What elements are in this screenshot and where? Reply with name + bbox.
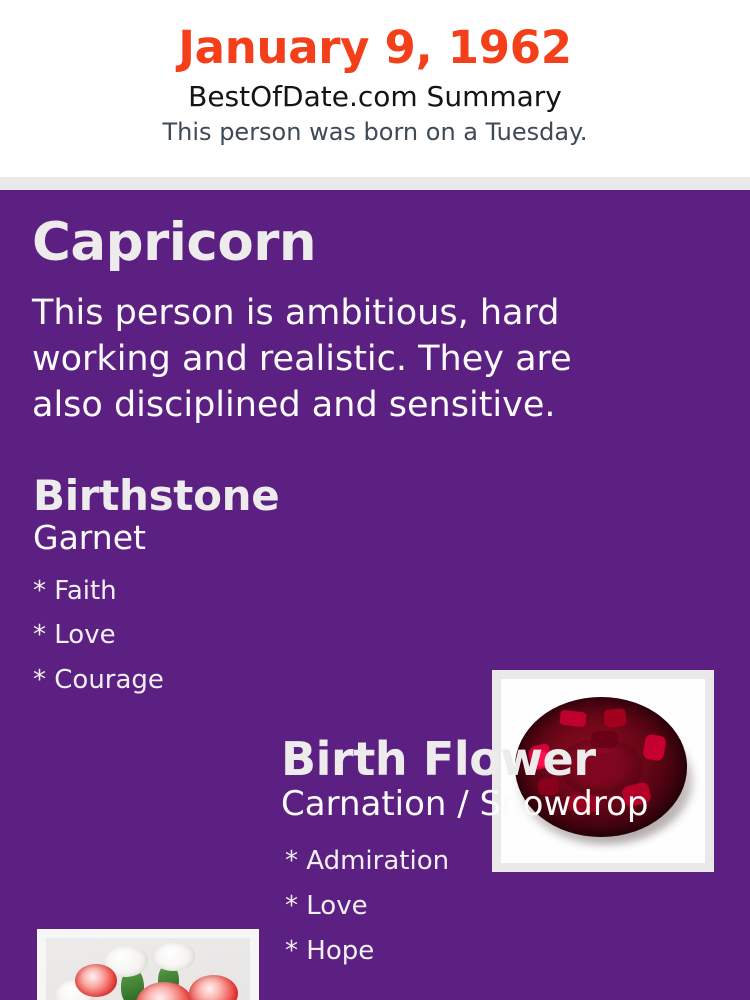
list-item: * Courage — [33, 658, 473, 703]
birthstone-trait-list: * Faith * Love * Courage — [33, 557, 473, 703]
birthstone-name: Garnet — [33, 518, 473, 556]
birthstone-section: Birthstone Garnet * Faith * Love * Coura… — [33, 473, 473, 703]
birth-flower-trait-list: * Admiration * Love * Hope — [281, 823, 741, 973]
list-item: * Faith — [33, 569, 473, 614]
page-header: January 9, 1962 BestOfDate.com Summary T… — [0, 0, 750, 177]
list-item: * Admiration — [285, 839, 741, 884]
zodiac-description: This person is ambitious, hard working a… — [32, 290, 652, 429]
birth-flower-section: Birth Flower Carnation / Snowdrop * Admi… — [281, 735, 741, 973]
zodiac-sign-title: Capricorn — [32, 215, 316, 271]
summary-panel: Capricorn This person is ambitious, hard… — [0, 190, 750, 1000]
page-title: January 9, 1962 — [0, 0, 750, 74]
site-summary-label: BestOfDate.com Summary — [0, 74, 750, 113]
carnation-bouquet-photo — [37, 929, 259, 1000]
list-item: * Hope — [285, 929, 741, 974]
birth-day-note: This person was born on a Tuesday. — [0, 113, 750, 147]
red-carnation — [75, 964, 118, 997]
white-carnation — [152, 942, 195, 972]
header-divider — [0, 177, 750, 190]
summary-page: January 9, 1962 BestOfDate.com Summary T… — [0, 0, 750, 1000]
list-item: * Love — [33, 613, 473, 658]
birthstone-heading: Birthstone — [33, 473, 473, 518]
gem-facet — [559, 710, 586, 728]
red-carnation — [136, 982, 193, 1000]
birth-flower-name: Carnation / Snowdrop — [281, 785, 741, 823]
flower-image-canvas — [46, 938, 250, 1000]
red-carnation — [189, 975, 238, 1000]
list-item: * Love — [285, 884, 741, 929]
gem-facet — [603, 707, 627, 727]
birth-flower-heading: Birth Flower — [281, 735, 741, 785]
